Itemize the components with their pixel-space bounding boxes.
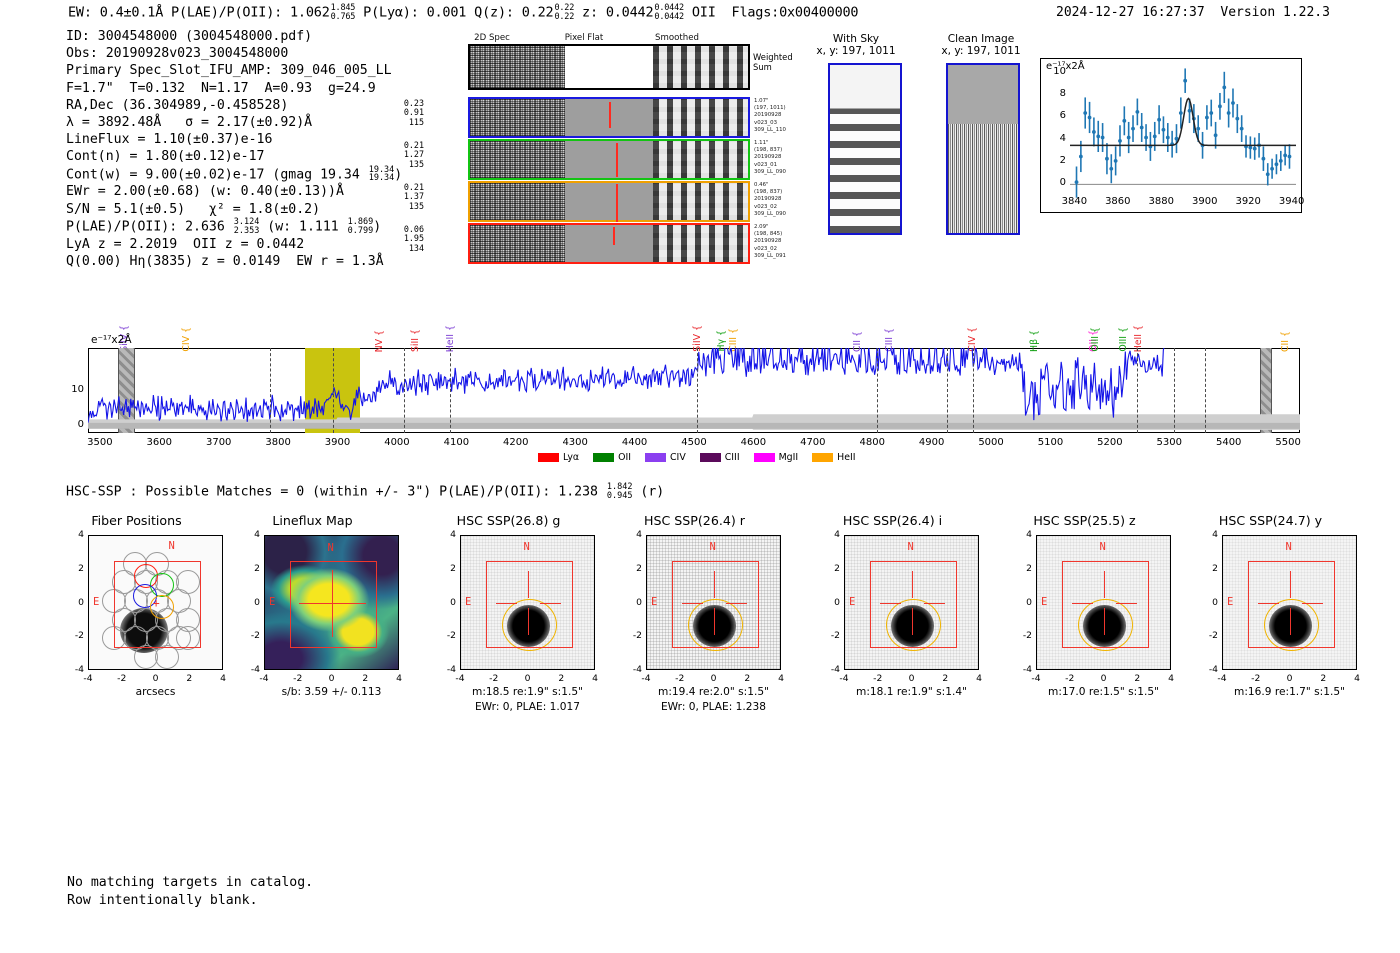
cutout-image-panel[interactable]: N E [646, 535, 781, 670]
cutout-panel-title: HSC SSP(25.5) z [996, 513, 1173, 528]
param-lineflux: LineFlux = 1.10(±0.37)e-16 [66, 131, 402, 148]
header-plya: P(Lyα): 0.001 [363, 5, 466, 21]
spectrum-x-tick: 3700 [197, 437, 241, 448]
cutout-y-tick: -2 [620, 630, 642, 641]
cutout-x-tick: 2 [1123, 673, 1151, 684]
cutout-x-tick: 4 [767, 673, 795, 684]
cutout-y-tick: -2 [62, 630, 84, 641]
header-redshift-errors: 0.04420.0442 [654, 4, 684, 21]
cutout-crosshair-v-bot [1104, 608, 1105, 635]
legend-swatch [538, 453, 559, 462]
cutout-caption-primary: m:18.1 re:1.9" s:1.4" [818, 686, 1005, 698]
fiber-2dspec-image [470, 183, 565, 220]
spectrum-x-tick: 5000 [969, 437, 1013, 448]
cutout-x-tick: 2 [931, 673, 959, 684]
cutout-caption-secondary: EWr: 0, PLAE: 1.238 [620, 701, 807, 713]
spectrum-dashed-marker [450, 348, 451, 433]
fiber-smoothed-image [653, 141, 748, 178]
legend-swatch [645, 453, 666, 462]
cutout-x-tick: 0 [1276, 673, 1304, 684]
cutout-crosshair-h-right [1116, 603, 1137, 604]
cutout-crosshair-h-right [726, 603, 747, 604]
weighted-sum-2dspec-image [470, 46, 565, 88]
pixelflat-red-marker [613, 227, 615, 245]
cutout-y-tick: 4 [818, 529, 840, 540]
cutout-crosshair-v-top [714, 571, 715, 598]
fiber-row-left-stats: 0.230.91115 [388, 99, 424, 127]
cutout-x-tick: 0 [142, 673, 170, 684]
spectrum-legend-entry: MgII [754, 452, 799, 463]
cutout-red-box [486, 561, 572, 647]
cutout-crosshair-h-left [1072, 603, 1093, 604]
spectrum-legend: LyαOIICIVCIIIMgIIHeII [538, 452, 870, 463]
weighted-sum-label: WeightedSum [753, 52, 793, 72]
param-obs: Obs: 20190928v023_3004548000 [66, 45, 402, 62]
spectrum-dashed-marker [1137, 348, 1138, 433]
cutout-y-tick: 2 [238, 563, 260, 574]
spectrum-x-tick: 4600 [731, 437, 775, 448]
fit-y-tick: 6 [1046, 110, 1066, 121]
spectrum-dashed-marker [333, 348, 334, 433]
fiber-row-right-meta: 1.11"(198, 837)20190928v023_01309_LL_090 [754, 140, 786, 176]
cutout-caption-primary: m:16.9 re:1.7" s:1.5" [1196, 686, 1383, 698]
fiber-pixelflat-image [565, 99, 653, 136]
spectrum-x-tick: 3600 [137, 437, 181, 448]
spectrum-x-tick: 4900 [910, 437, 954, 448]
cutout-image-panel[interactable]: +N E [88, 535, 223, 670]
cutout-crosshair-v-top [1290, 571, 1291, 598]
spec2d-fiber-row [468, 139, 750, 180]
cutout-y-tick: -2 [818, 630, 840, 641]
cutout-x-tick: 2 [1309, 673, 1337, 684]
spec2d-weighted-sum-row [468, 44, 750, 90]
cutout-caption-primary: m:19.4 re:2.0" s:1.5" [620, 686, 807, 698]
cutout-y-tick: 4 [620, 529, 642, 540]
cutout-crosshair-h-left [880, 603, 901, 604]
cutout-red-box [1248, 561, 1334, 647]
cutout-caption-primary: m:18.5 re:1.9" s:1.5" [434, 686, 621, 698]
legend-swatch [593, 453, 614, 462]
fit-y-tick: 8 [1046, 88, 1066, 99]
cutout-crosshair-h-right [924, 603, 945, 604]
header-qz-errors: 0.220.22 [554, 4, 574, 21]
cutout-y-tick: -2 [1196, 630, 1218, 641]
cutout-y-tick: 2 [434, 563, 456, 574]
cutout-y-tick: 0 [818, 597, 840, 608]
fiber-row-right-meta: 1.07"(197, 1011)20190928v023_03309_LL_11… [754, 98, 786, 134]
cutout-x-tick: 2 [175, 673, 203, 684]
cutout-y-tick: 4 [1010, 529, 1032, 540]
compass-east: E [1041, 596, 1047, 608]
fiber-row-right-meta: 2.09"(198, 845)20190928v023_02309_LL_091 [754, 224, 786, 260]
header-version: Version 1.22.3 [1220, 5, 1330, 20]
weighted-sum-pixelflat-image [565, 46, 653, 88]
cutout-crosshair-h [299, 603, 367, 604]
cutout-x-tick: -2 [284, 673, 312, 684]
cutout-caption-primary: m:17.0 re:1.5" s:1.5" [1010, 686, 1197, 698]
spectrum-x-tick: 5100 [1028, 437, 1072, 448]
cutout-x-tick: -4 [632, 673, 660, 684]
cutout-image-panel[interactable]: N E [1222, 535, 1357, 670]
compass-east: E [93, 596, 99, 608]
param-id: ID: 3004548000 (3004548000.pdf) [66, 28, 402, 45]
cutout-crosshair-v-top [912, 571, 913, 598]
pixelflat-red-marker [616, 143, 618, 177]
cutout-image-panel[interactable]: N E [264, 535, 399, 670]
spectrum-x-tick: 4500 [672, 437, 716, 448]
legend-swatch [812, 453, 833, 462]
cutout-x-axis-label: arcsecs [68, 686, 243, 698]
compass-north: N [328, 542, 334, 554]
legend-swatch [754, 453, 775, 462]
cutout-x-tick: -2 [666, 673, 694, 684]
spectrum-x-tick: 5300 [1147, 437, 1191, 448]
fit-x-tick: 3840 [1055, 196, 1093, 207]
spectrum-x-tick: 4100 [434, 437, 478, 448]
spectrum-x-tick: 3800 [256, 437, 300, 448]
cutout-y-tick: 0 [1196, 597, 1218, 608]
cutout-y-tick: 2 [1010, 563, 1032, 574]
spec2d-fiber-row [468, 223, 750, 264]
cutout-y-tick: 4 [1196, 529, 1218, 540]
clean-image-caption: Clean Imagex, y: 197, 1011 [928, 33, 1034, 58]
spectrum-x-tick: 4200 [494, 437, 538, 448]
spec2d-header-2dspec: 2D Spec [448, 33, 536, 43]
spec2d-fiber-row [468, 97, 750, 138]
compass-east: E [849, 596, 855, 608]
spectrum-legend-entry: HeII [812, 452, 855, 463]
cutout-x-tick: 0 [1090, 673, 1118, 684]
clean-image [946, 63, 1020, 235]
full-spectrum-chart: e⁻¹⁷x2Å [88, 348, 1300, 433]
fiber-row-left-stats: 0.211.37135 [388, 183, 424, 211]
param-sn-chi2: S/N = 5.1(±0.5) χ² = 1.8(±0.2) [66, 201, 402, 218]
cutout-x-tick: 2 [351, 673, 379, 684]
spectrum-x-tick: 5200 [1088, 437, 1132, 448]
fiber-2dspec-image [470, 225, 565, 262]
header-ew-plae-prefix: EW: 0.4±0.1Å P(LAE)/P(OII): [68, 5, 290, 21]
spec2d-header-smoothed: Smoothed [633, 33, 721, 43]
fit-x-tick: 3940 [1273, 196, 1311, 207]
fit-y-tick: 4 [1046, 133, 1066, 144]
fiber-2dspec-image [470, 99, 565, 136]
param-seeing: F=1.7" T=0.132 N=1.17 A=0.93 g=24.9 [66, 80, 402, 97]
header-timestamp-version: 2024-12-27 16:27:37 Version 1.22.3 [1056, 5, 1330, 20]
spectrum-x-tick: 4000 [375, 437, 419, 448]
header-timestamp: 2024-12-27 16:27:37 [1056, 5, 1205, 20]
param-q-line: Q(0.00) Hη(3835) z = 0.0149 EW r = 1.3Å [66, 253, 402, 270]
with-sky-caption: With Skyx, y: 197, 1011 [808, 33, 904, 58]
cutout-crosshair-v-bot [1290, 608, 1291, 635]
cutout-y-tick: 4 [434, 529, 456, 540]
compass-north: N [1100, 541, 1106, 553]
bottom-note-line2: Row intentionally blank. [67, 892, 313, 910]
header-flags: Flags:0x00400000 [732, 5, 859, 21]
spectrum-dashed-marker [697, 348, 698, 433]
cutout-crosshair-h-left [1258, 603, 1279, 604]
cutout-image-panel[interactable]: N E [844, 535, 979, 670]
header-summary-line: EW: 0.4±0.1Å P(LAE)/P(OII): 1.0621.8450.… [68, 4, 858, 21]
cutout-x-tick: -2 [480, 673, 508, 684]
cutout-x-tick: -4 [250, 673, 278, 684]
cutout-red-box [870, 561, 956, 647]
cutout-x-tick: 4 [385, 673, 413, 684]
spectrum-legend-entry: Lyα [538, 452, 579, 463]
fiber-center-marker: + [153, 596, 160, 610]
cutout-crosshair-h-left [682, 603, 703, 604]
spectrum-dashed-marker [877, 348, 878, 433]
cutout-x-tick: 2 [547, 673, 575, 684]
spectrum-x-tick: 4400 [613, 437, 657, 448]
fiber-smoothed-image [653, 225, 748, 262]
cutout-x-tick: -4 [830, 673, 858, 684]
param-redshifts: LyA z = 2.2019 OII z = 0.0442 [66, 236, 402, 253]
cutout-y-tick: 4 [238, 529, 260, 540]
cutout-x-tick: -4 [1208, 673, 1236, 684]
cutout-y-tick: 0 [62, 597, 84, 608]
fit-y-tick: 2 [1046, 155, 1066, 166]
cutout-y-tick: 2 [818, 563, 840, 574]
cutout-x-tick: 4 [581, 673, 609, 684]
compass-east: E [1227, 596, 1233, 608]
cutout-crosshair-h-left [496, 603, 517, 604]
fiber-circle [155, 645, 179, 669]
fiber-pixelflat-image [565, 183, 653, 220]
cutout-panel-title: HSC SSP(26.8) g [420, 513, 597, 528]
spectrum-units-label: e⁻¹⁷x2Å [91, 334, 132, 346]
hsc-ssp-summary: HSC-SSP : Possible Matches = 0 (within +… [66, 483, 664, 500]
param-cont-n: Cont(n) = 1.80(±0.12)e-17 [66, 148, 402, 165]
spectrum-x-tick: 5400 [1207, 437, 1251, 448]
cutout-caption-primary: s/b: 3.59 +/- 0.113 [238, 686, 425, 698]
cutout-y-tick: 2 [62, 563, 84, 574]
cutout-caption-secondary: EWr: 0, PLAE: 1.017 [434, 701, 621, 713]
fiber-row-left-stats: 0.211.27135 [388, 141, 424, 169]
compass-east: E [269, 596, 275, 608]
cutout-crosshair-v-bot [912, 608, 913, 635]
header-plae-errors: 1.8450.765 [331, 4, 356, 21]
cutout-x-tick: 4 [1343, 673, 1371, 684]
spectrum-x-tick: 3500 [78, 437, 122, 448]
cutout-x-tick: -4 [446, 673, 474, 684]
cutout-y-tick: -2 [1010, 630, 1032, 641]
cutout-x-tick: -4 [1022, 673, 1050, 684]
fit-plot-canvas [1040, 58, 1302, 213]
header-plae-value: 1.062 [290, 5, 330, 21]
cutout-panel-title: Lineflux Map [224, 513, 401, 528]
cutout-crosshair-v-top [1104, 571, 1105, 598]
spectrum-dashed-marker [973, 348, 974, 433]
fiber-row-left-stats: 0.061.95134 [388, 225, 424, 253]
cutout-x-tick: -2 [864, 673, 892, 684]
cutout-y-tick: -2 [434, 630, 456, 641]
cutout-y-tick: 0 [1010, 597, 1032, 608]
cutout-x-tick: 4 [965, 673, 993, 684]
cutout-x-tick: -2 [108, 673, 136, 684]
fiber-row-right-meta: 0.46"(198, 837)20190928v023_02309_LL_090 [754, 182, 786, 218]
cutout-red-box [290, 561, 376, 647]
compass-north: N [169, 540, 175, 552]
cutout-image-panel[interactable]: N E [460, 535, 595, 670]
cutout-y-tick: 4 [62, 529, 84, 540]
param-primary-spec: Primary Spec_Slot_IFU_AMP: 309_046_005_L… [66, 62, 402, 79]
fit-x-tick: 3920 [1229, 196, 1267, 207]
spec2d-header-pixelflat: Pixel Flat [540, 33, 628, 43]
fiber-circle [134, 645, 158, 669]
fiber-2dspec-image [470, 141, 565, 178]
spectrum-dashed-marker [1205, 348, 1206, 433]
cutout-x-tick: 4 [209, 673, 237, 684]
compass-north: N [710, 541, 716, 553]
spec2d-block: 2D Spec Pixel Flat Smoothed WeightedSum … [428, 33, 758, 258]
cutout-crosshair-v-bot [528, 608, 529, 635]
spectrum-x-tick: 4700 [791, 437, 835, 448]
compass-east: E [651, 596, 657, 608]
spectrum-legend-entry: CIV [645, 452, 686, 463]
compass-east: E [465, 596, 471, 608]
cutout-x-tick: 0 [700, 673, 728, 684]
param-lambda-sigma: λ = 3892.48Å σ = 2.17(±0.92)Å [66, 114, 402, 131]
fiber-pixelflat-image [565, 141, 653, 178]
header-species: OII [692, 5, 716, 21]
with-sky-image [828, 63, 902, 235]
spectrum-dashed-marker [947, 348, 948, 433]
cutout-crosshair-v-top [528, 571, 529, 598]
spectrum-dashed-marker [1174, 348, 1175, 433]
fiber-smoothed-image [653, 99, 748, 136]
spectrum-legend-entry: OII [593, 452, 631, 463]
param-ewr: EWr = 2.00(±0.68) (w: 0.40(±0.13))Å [66, 183, 402, 200]
spectrum-x-tick: 3900 [316, 437, 360, 448]
cutout-panel-title: HSC SSP(24.7) y [1182, 513, 1359, 528]
spectrum-x-tick: 4300 [553, 437, 597, 448]
spectrum-line-labels: SiIV {CIV {NV {SiII {HeII {SiIV {Hγ {CII… [88, 282, 1300, 352]
param-cont-w: Cont(w) = 9.00(±0.02)e-17 (gmag 19.34 19… [66, 166, 402, 184]
fiber-pixelflat-image [565, 225, 653, 262]
spectrum-legend-entry: CIII [700, 452, 740, 463]
cutout-panel-title: HSC SSP(26.4) i [804, 513, 981, 528]
spectrum-x-tick: 4800 [850, 437, 894, 448]
cutout-x-tick: 0 [514, 673, 542, 684]
fiber-smoothed-image [653, 183, 748, 220]
compass-north: N [908, 541, 914, 553]
spectrum-dashed-marker [404, 348, 405, 433]
cutout-x-tick: 0 [318, 673, 346, 684]
fit-x-tick: 3860 [1099, 196, 1137, 207]
bottom-note-line1: No matching targets in catalog. [67, 874, 313, 892]
cutout-x-tick: 2 [733, 673, 761, 684]
cutout-y-tick: 2 [1196, 563, 1218, 574]
bottom-note: No matching targets in catalog. Row inte… [67, 874, 313, 909]
cutout-red-box [672, 561, 758, 647]
fit-x-tick: 3880 [1142, 196, 1180, 207]
weighted-sum-smoothed-image [653, 46, 748, 88]
cutout-y-tick: 0 [434, 597, 456, 608]
spectrum-dashed-marker [270, 348, 271, 433]
cutout-y-tick: 0 [620, 597, 642, 608]
cutout-y-tick: 2 [620, 563, 642, 574]
cutout-x-tick: -4 [74, 673, 102, 684]
cutout-x-tick: -2 [1056, 673, 1084, 684]
cutout-red-box [1062, 561, 1148, 647]
spectrum-x-tick: 5500 [1266, 437, 1310, 448]
cutout-image-panel[interactable]: N E [1036, 535, 1171, 670]
pixelflat-red-marker [616, 184, 618, 222]
cutout-crosshair-h-right [1302, 603, 1323, 604]
compass-north: N [1286, 541, 1292, 553]
spec2d-fiber-row [468, 181, 750, 222]
header-qz: Q(z): 0.22 [474, 5, 553, 21]
param-radec: RA,Dec (36.304989,-0.458528) [66, 97, 402, 114]
cutout-x-tick: 0 [898, 673, 926, 684]
fit-y-tick: 0 [1046, 177, 1066, 188]
param-plae-ratio: P(LAE)/P(OII): 2.636 3.1242.353 (w: 1.11… [66, 218, 402, 236]
header-redshift: z: 0.0442 [582, 5, 653, 21]
legend-swatch [700, 453, 721, 462]
fit-x-tick: 3900 [1186, 196, 1224, 207]
emission-line-fit-chart: e⁻¹⁷x2Å 0246810 384038603880390039203940 [1040, 58, 1302, 213]
spectrum-y-tick: 0 [62, 419, 84, 430]
cutout-y-tick: -2 [238, 630, 260, 641]
fit-y-tick: 10 [1046, 66, 1066, 77]
pixelflat-red-marker [609, 102, 611, 128]
spectrum-y-tick: 10 [62, 384, 84, 395]
cutout-y-tick: 0 [238, 597, 260, 608]
cutout-panel-title: HSC SSP(26.4) r [606, 513, 783, 528]
cutout-x-tick: -2 [1242, 673, 1270, 684]
cutout-crosshair-h-right [540, 603, 561, 604]
compass-north: N [524, 541, 530, 553]
cutout-panel-title: Fiber Positions [48, 513, 225, 528]
cutout-x-tick: 4 [1157, 673, 1185, 684]
cutout-crosshair-v-bot [714, 608, 715, 635]
parameter-block: ID: 3004548000 (3004548000.pdf) Obs: 201… [66, 28, 402, 270]
